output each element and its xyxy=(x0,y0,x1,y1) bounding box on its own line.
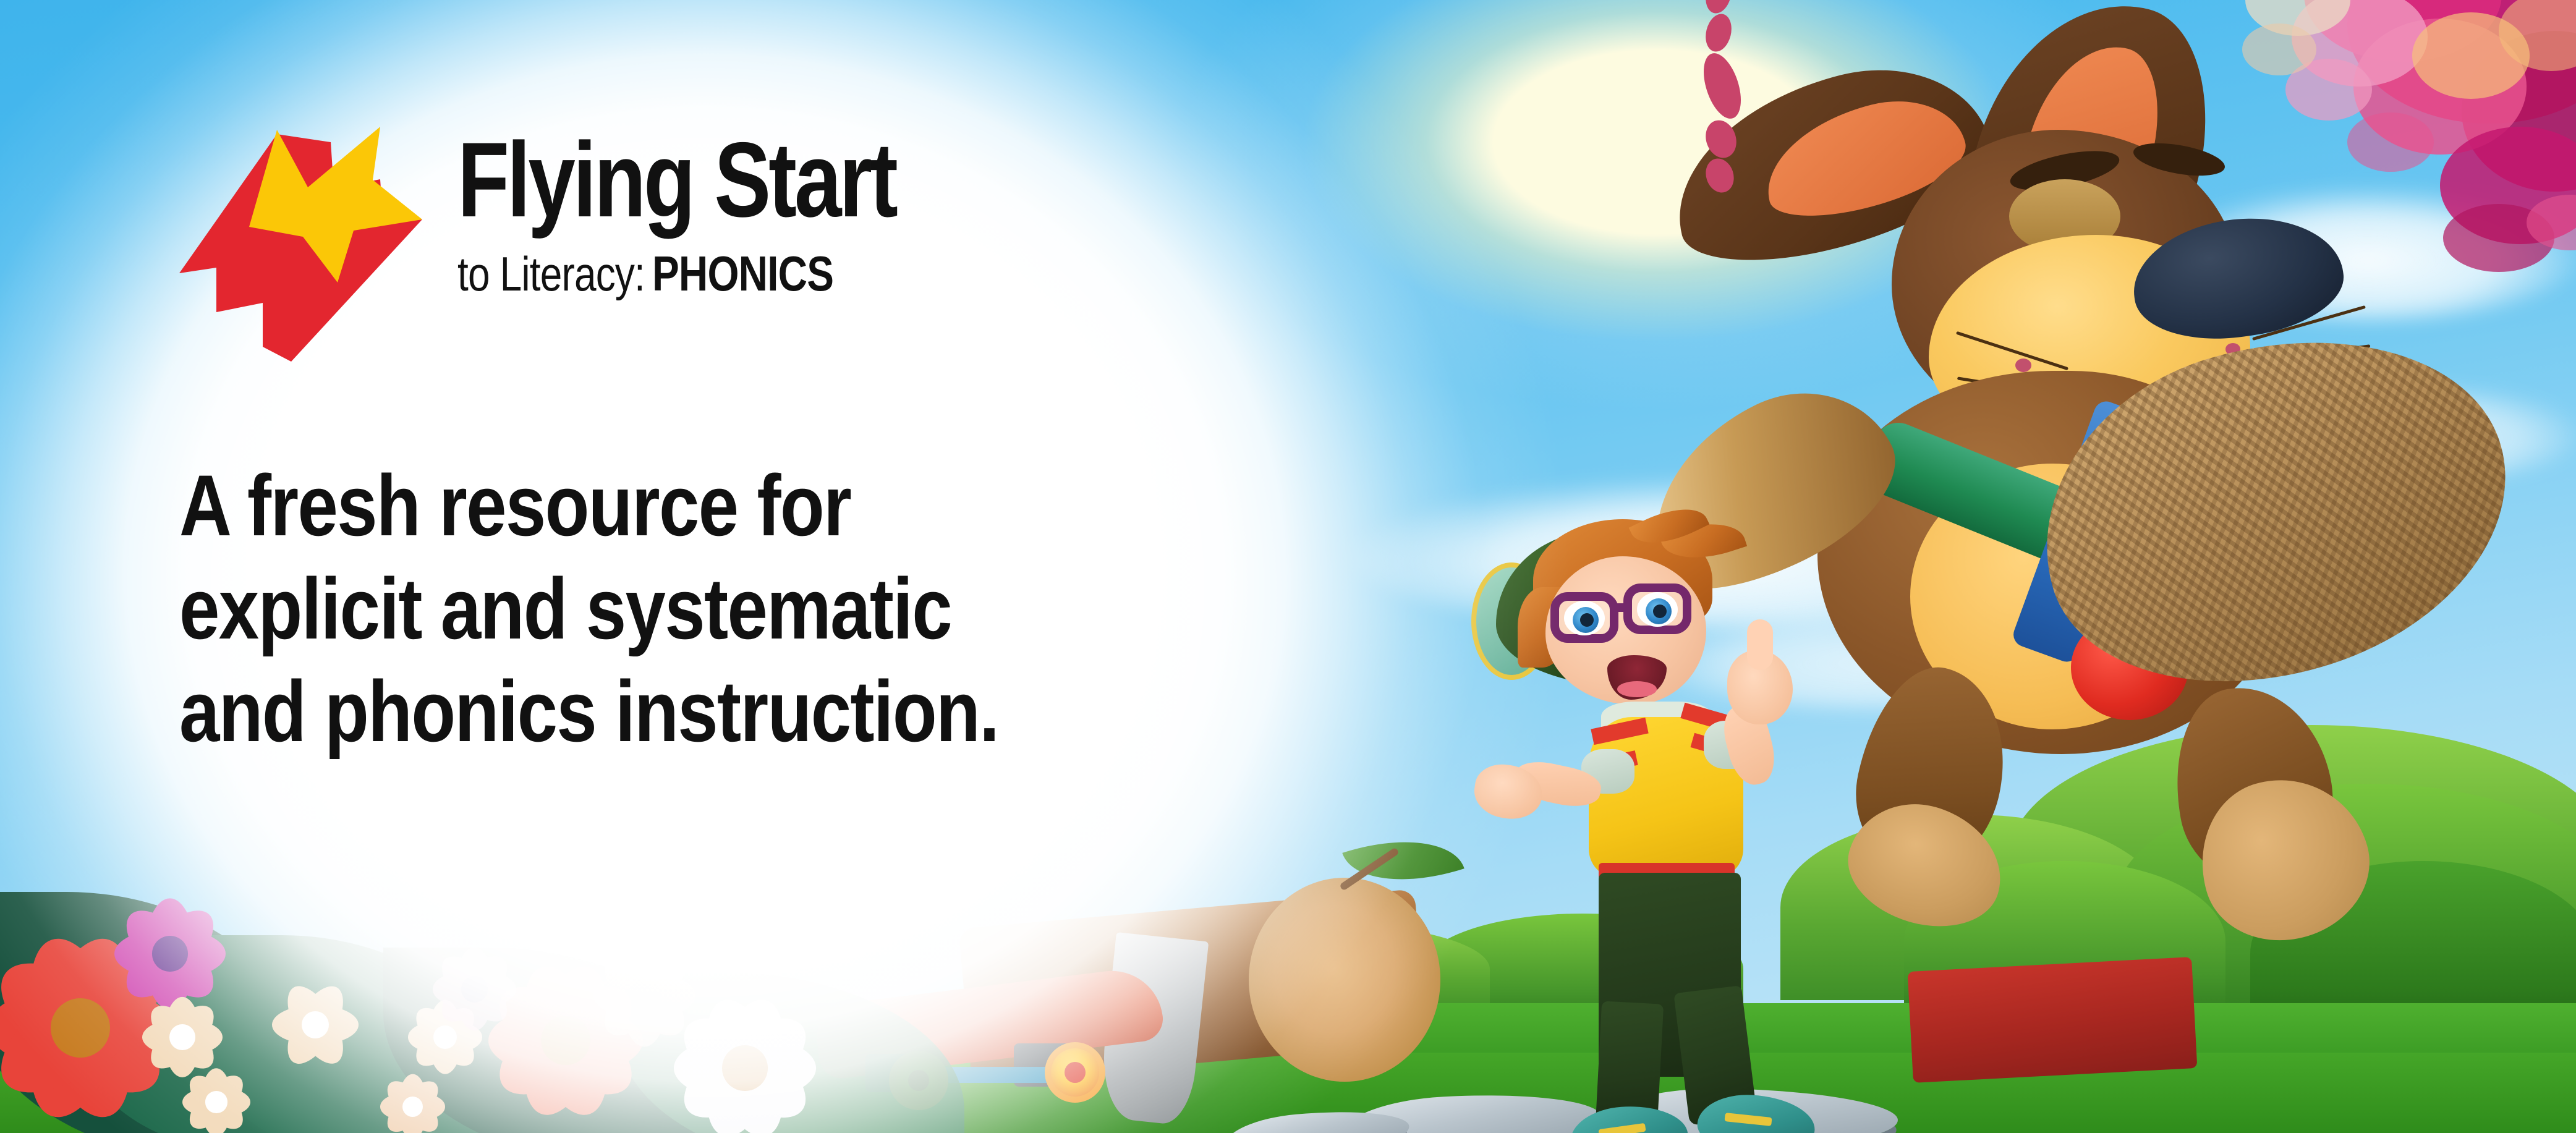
star-flash-icon xyxy=(176,121,430,362)
headline-line-2: explicit and systematic xyxy=(179,558,1166,661)
headline-line-3: and phonics instruction. xyxy=(179,660,1166,763)
boy-character xyxy=(1477,519,1861,1133)
flower-white-daisy xyxy=(674,997,816,1133)
logo-subtitle-bold: PHONICS xyxy=(652,246,833,301)
flower-bed xyxy=(0,836,1051,1133)
flower-magenta xyxy=(114,898,226,1009)
boy-tongue xyxy=(1617,681,1657,697)
boy-pupil-right xyxy=(1653,605,1667,618)
headline-block: A fresh resource for explicit and system… xyxy=(179,454,1354,763)
dog-paw-pad xyxy=(1702,11,1735,54)
boy-pointing-finger xyxy=(1747,619,1773,670)
brand-logo[interactable]: Flying Start to Literacy: PHONICS xyxy=(176,121,1005,349)
logo-wordmark: Flying Start to Literacy: PHONICS xyxy=(457,127,1005,299)
logo-title: Flying Start xyxy=(457,127,896,233)
flower-cream xyxy=(272,982,359,1068)
wooden-crate xyxy=(1908,957,2198,1083)
headline-line-1: A fresh resource for xyxy=(179,454,1166,558)
logo-subtitle-light: to Literacy: xyxy=(457,247,652,301)
boy-pupil-left xyxy=(1580,613,1594,627)
glasses-bridge xyxy=(1617,603,1630,612)
flower-pink xyxy=(433,948,516,1031)
flower-cream xyxy=(142,997,223,1077)
promo-banner: Flying Start to Literacy: PHONICS A fres… xyxy=(0,0,2576,1133)
dog-freckle xyxy=(2015,359,2031,372)
logo-subtitle: to Literacy: PHONICS xyxy=(457,249,907,299)
flower-cream xyxy=(182,1068,250,1133)
red-flash-shape xyxy=(179,134,422,362)
flower-cream xyxy=(380,1074,445,1133)
cut-log-end xyxy=(1249,878,1440,1082)
skateboard-wheel xyxy=(1045,1042,1105,1103)
flying-star-logo-icon xyxy=(176,121,430,362)
